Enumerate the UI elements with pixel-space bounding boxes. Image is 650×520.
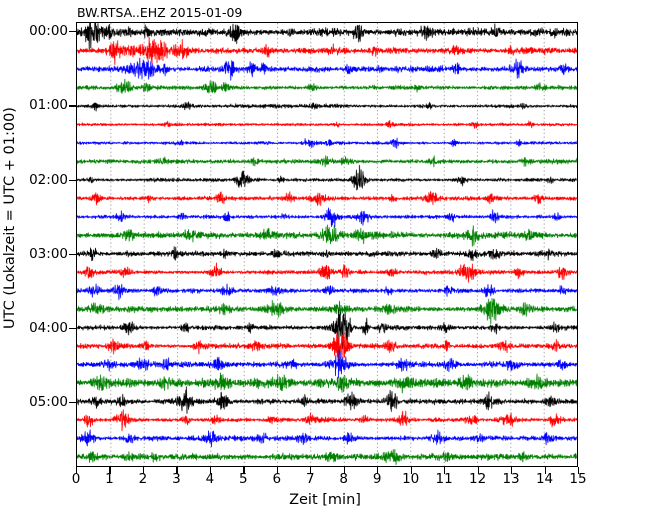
seismogram-traces-canvas: [77, 23, 577, 466]
x-tick-mark: [511, 467, 512, 474]
y-axis-label: UTC (Lokalzeit = UTC + 01:00): [2, 0, 18, 458]
x-tick-mark: [344, 467, 345, 474]
y-tick-mark: [69, 254, 76, 255]
page-title: BW.RTSA..EHZ 2015-01-09: [77, 5, 242, 20]
x-tick-mark: [411, 467, 412, 474]
y-tick-mark: [69, 328, 76, 329]
y-tick-label: 01:00: [0, 97, 68, 113]
y-tick-mark: [69, 402, 76, 403]
x-tick-mark: [76, 467, 77, 474]
y-tick-label: 00:00: [0, 23, 68, 39]
x-tick-mark: [176, 467, 177, 474]
seismogram-figure: BW.RTSA..EHZ 2015-01-09 UTC (Lokalzeit =…: [0, 0, 650, 520]
plot-area[interactable]: [76, 22, 578, 467]
x-tick-mark: [545, 467, 546, 474]
y-tick-label: 05:00: [0, 394, 68, 410]
x-tick-mark: [109, 467, 110, 474]
x-tick-mark: [444, 467, 445, 474]
x-tick-mark: [478, 467, 479, 474]
x-tick-mark: [143, 467, 144, 474]
x-tick-mark: [277, 467, 278, 474]
x-tick-mark: [578, 467, 579, 474]
x-tick-mark: [243, 467, 244, 474]
x-axis-label: Zeit [min]: [0, 492, 650, 508]
x-tick-mark: [377, 467, 378, 474]
y-tick-label: 02:00: [0, 172, 68, 188]
x-tick-mark: [310, 467, 311, 474]
y-tick-label: 03:00: [0, 246, 68, 262]
y-tick-mark: [69, 105, 76, 106]
x-tick-mark: [210, 467, 211, 474]
y-tick-mark: [69, 180, 76, 181]
y-tick-mark: [69, 31, 76, 32]
y-tick-label: 04:00: [0, 320, 68, 336]
